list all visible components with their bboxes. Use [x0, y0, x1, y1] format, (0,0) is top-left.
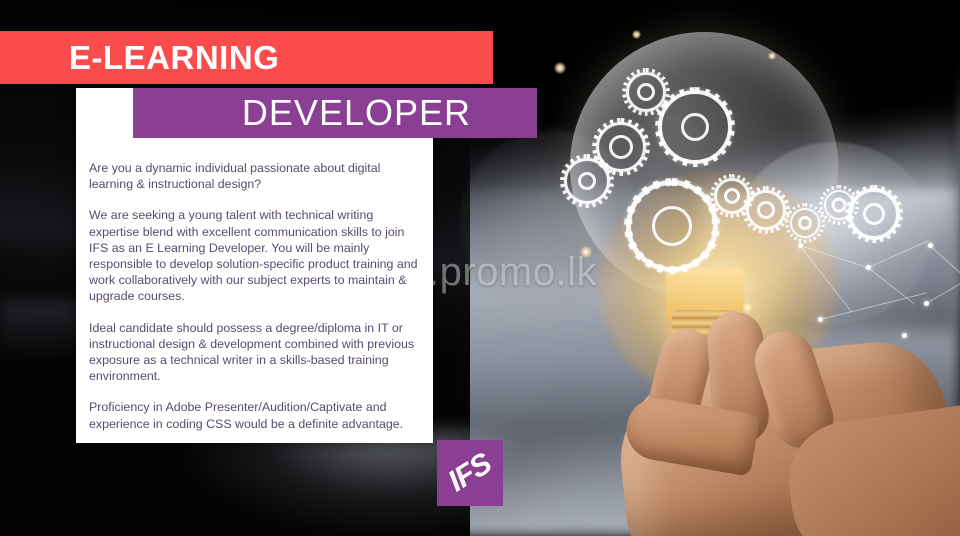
- background-bottom-shine: [180, 430, 600, 536]
- gear-icon: [658, 90, 732, 164]
- job-paragraph: Proficiency in Adobe Presenter/Audition/…: [89, 399, 425, 431]
- headline-secondary-text: DEVELOPER: [242, 95, 471, 131]
- light-spark: [554, 62, 566, 74]
- hand-icon: [600, 300, 960, 536]
- gear-icon: [564, 158, 610, 204]
- headline-banner-primary: E-LEARNING: [0, 31, 493, 84]
- light-spark: [580, 246, 592, 258]
- job-paragraph: We are seeking a young talent with techn…: [89, 207, 425, 304]
- job-description-card: Are you a dynamic individual passionate …: [76, 88, 433, 443]
- job-description-body: Are you a dynamic individual passionate …: [89, 160, 425, 432]
- job-paragraph: Ideal candidate should possess a degree/…: [89, 320, 425, 385]
- job-advertisement-poster: .promo.lk Are you a dynamic individual p…: [0, 0, 960, 536]
- headline-primary-text: E-LEARNING: [69, 41, 279, 74]
- light-spark: [632, 30, 641, 39]
- headline-banner-secondary: DEVELOPER: [133, 88, 537, 138]
- ifs-logo-text: IFS: [442, 447, 497, 499]
- ifs-logo: IFS: [437, 440, 503, 506]
- light-spark: [768, 52, 776, 60]
- gear-icon: [746, 190, 786, 230]
- job-paragraph: Are you a dynamic individual passionate …: [89, 160, 425, 192]
- gear-icon: [626, 180, 718, 272]
- gear-icon: [626, 72, 666, 112]
